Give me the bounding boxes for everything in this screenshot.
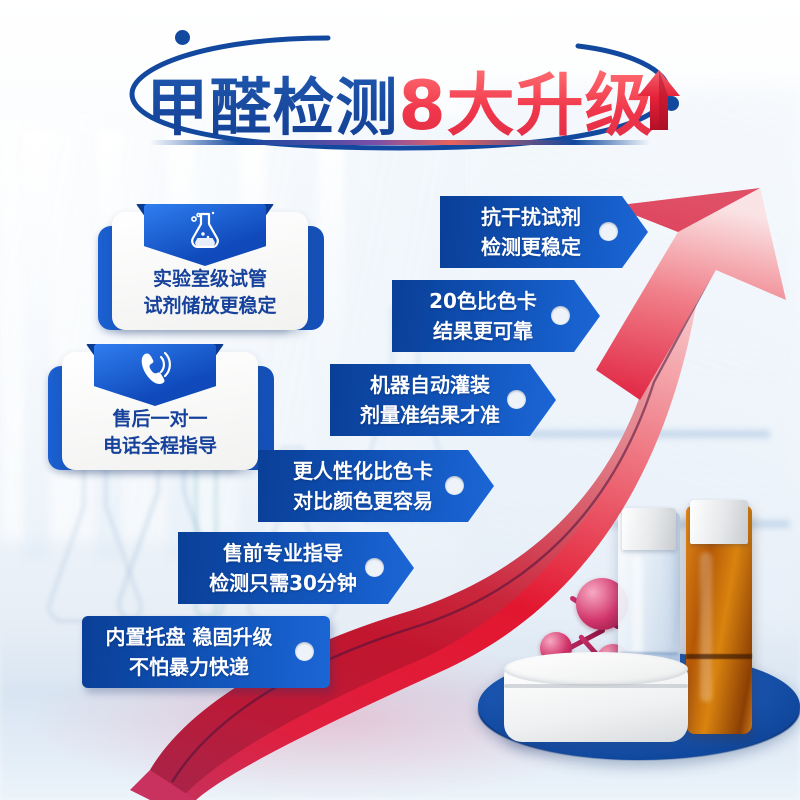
- card-face: 实验室级试管 试剂储放更稳定: [112, 212, 308, 330]
- flask-icon: [185, 208, 225, 248]
- card-text: 实验室级试管 试剂储放更稳定: [112, 266, 308, 320]
- title-blue-text: 甲醛检测: [146, 71, 398, 144]
- tag-line-2: 检测更稳定: [440, 232, 622, 262]
- white-container-lid: [504, 652, 688, 686]
- card-line-1: 实验室级试管: [112, 266, 308, 293]
- tag-inner-tray[interactable]: 内置托盘 稳固升级 不怕暴力快递: [82, 616, 330, 688]
- card-line-2: 试剂储放更稳定: [112, 293, 308, 320]
- amber-vial-highlight: [700, 552, 712, 702]
- tag-hole: [551, 306, 570, 325]
- clear-vial-cap: [622, 508, 676, 550]
- tag-line-1: 售前专业指导: [178, 538, 388, 568]
- card-text: 售后一对一 电话全程指导: [62, 406, 258, 460]
- tag-hole: [445, 476, 464, 495]
- up-arrow-icon: [636, 68, 682, 132]
- tag-line-1: 更人性化比色卡: [258, 456, 468, 486]
- tag-line-2: 结果更可靠: [392, 316, 574, 346]
- title-red-text: 8大升级: [398, 67, 653, 146]
- tag-line-1: 机器自动灌装: [330, 370, 530, 400]
- tag-text: 内置托盘 稳固升级 不怕暴力快递: [82, 622, 330, 682]
- tag-humanized-card[interactable]: 更人性化比色卡 对比颜色更容易: [258, 450, 494, 522]
- tag-line-1: 内置托盘 稳固升级: [82, 622, 296, 652]
- card-line-1: 售后一对一: [62, 406, 258, 433]
- card-line-2: 电话全程指导: [62, 433, 258, 460]
- header-dot-left: [175, 30, 190, 45]
- header: 甲醛检测8大升级: [0, 22, 800, 162]
- tag-line-2: 对比颜色更容易: [258, 486, 468, 516]
- white-container-seam: [504, 684, 688, 688]
- tag-line-2: 不怕暴力快递: [82, 652, 296, 682]
- tag-anti-interference[interactable]: 抗干扰试剂 检测更稳定: [440, 196, 648, 268]
- amber-vial-cap: [690, 500, 748, 544]
- phone-icon: [135, 348, 175, 388]
- tag-auto-filling[interactable]: 机器自动灌装 剂量准结果才准: [330, 364, 556, 436]
- promo-poster: 甲醛检测8大升级: [0, 0, 800, 800]
- header-underline: [150, 140, 650, 145]
- tag-presale-guide[interactable]: 售前专业指导 检测只需30分钟: [178, 532, 414, 604]
- amber-vial-liquid-line: [686, 654, 752, 659]
- tag-hole: [295, 642, 314, 661]
- card-face: 售后一对一 电话全程指导: [62, 352, 258, 470]
- card-banner: [144, 204, 266, 266]
- tag-line-2: 检测只需30分钟: [178, 568, 388, 598]
- card-banner: [94, 344, 216, 406]
- banner-icon-slot: [94, 348, 216, 393]
- tag-hole: [507, 390, 526, 409]
- tag-line-1: 抗干扰试剂: [440, 202, 622, 232]
- background-shelf: [530, 430, 770, 438]
- tag-line-2: 剂量准结果才准: [330, 400, 530, 430]
- feature-card-after-sales[interactable]: 售后一对一 电话全程指导: [62, 352, 258, 470]
- tag-color-card-20[interactable]: 20色比色卡 结果更可靠: [392, 280, 600, 352]
- banner-icon-slot: [144, 208, 266, 253]
- tag-line-1: 20色比色卡: [392, 286, 574, 316]
- tag-hole: [599, 222, 618, 241]
- tag-hole: [365, 558, 384, 577]
- feature-card-test-tube[interactable]: 实验室级试管 试剂储放更稳定: [112, 212, 308, 330]
